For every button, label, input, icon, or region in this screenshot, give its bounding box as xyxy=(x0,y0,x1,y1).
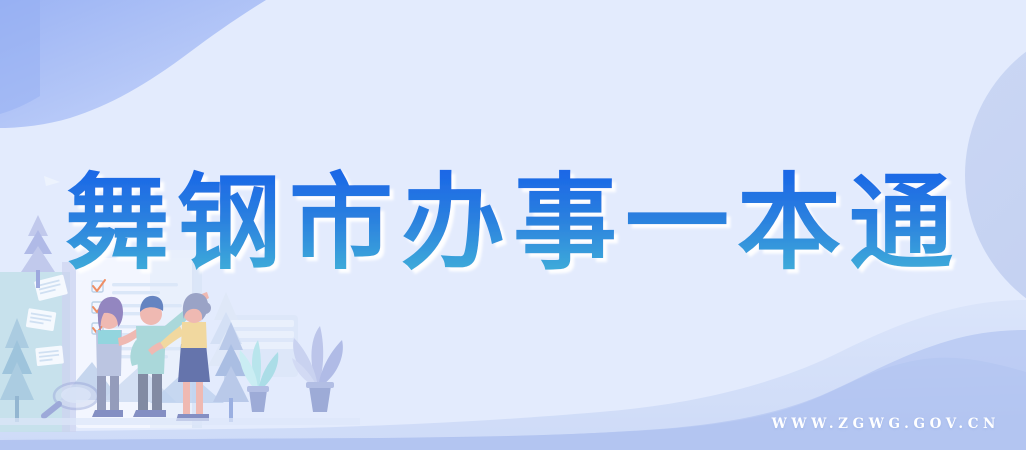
person-right-hair-bun xyxy=(199,302,211,314)
potted-plant-purple xyxy=(292,326,343,412)
person-right-skirt xyxy=(178,344,210,382)
ground-line xyxy=(0,418,360,425)
floating-paper-top xyxy=(44,176,60,186)
person-center-leg-1 xyxy=(138,370,148,412)
person-left-top xyxy=(98,330,121,344)
cabinet-row-1 xyxy=(230,320,294,327)
person-right-leg-2 xyxy=(196,378,203,416)
cabinet-row-2 xyxy=(230,331,294,338)
site-url[interactable]: WWW.ZGWG.GOV.CN xyxy=(772,416,1000,432)
office-teamwork-illustration xyxy=(0,0,1026,450)
person-right-top xyxy=(181,322,207,348)
site-url-wrapper: WWW.ZGWG.GOV.CN xyxy=(772,415,1000,433)
site-banner: 舞钢市办事一本通 WWW.ZGWG.GOV.CN xyxy=(0,0,1026,450)
person-center-shoe-2 xyxy=(147,410,166,417)
person-left-shoe-2 xyxy=(105,410,123,417)
person-center-leg-2 xyxy=(152,370,162,412)
person-left-leg-2 xyxy=(110,372,119,412)
person-right-leg-1 xyxy=(183,378,190,416)
person-left-leg-1 xyxy=(97,372,106,412)
